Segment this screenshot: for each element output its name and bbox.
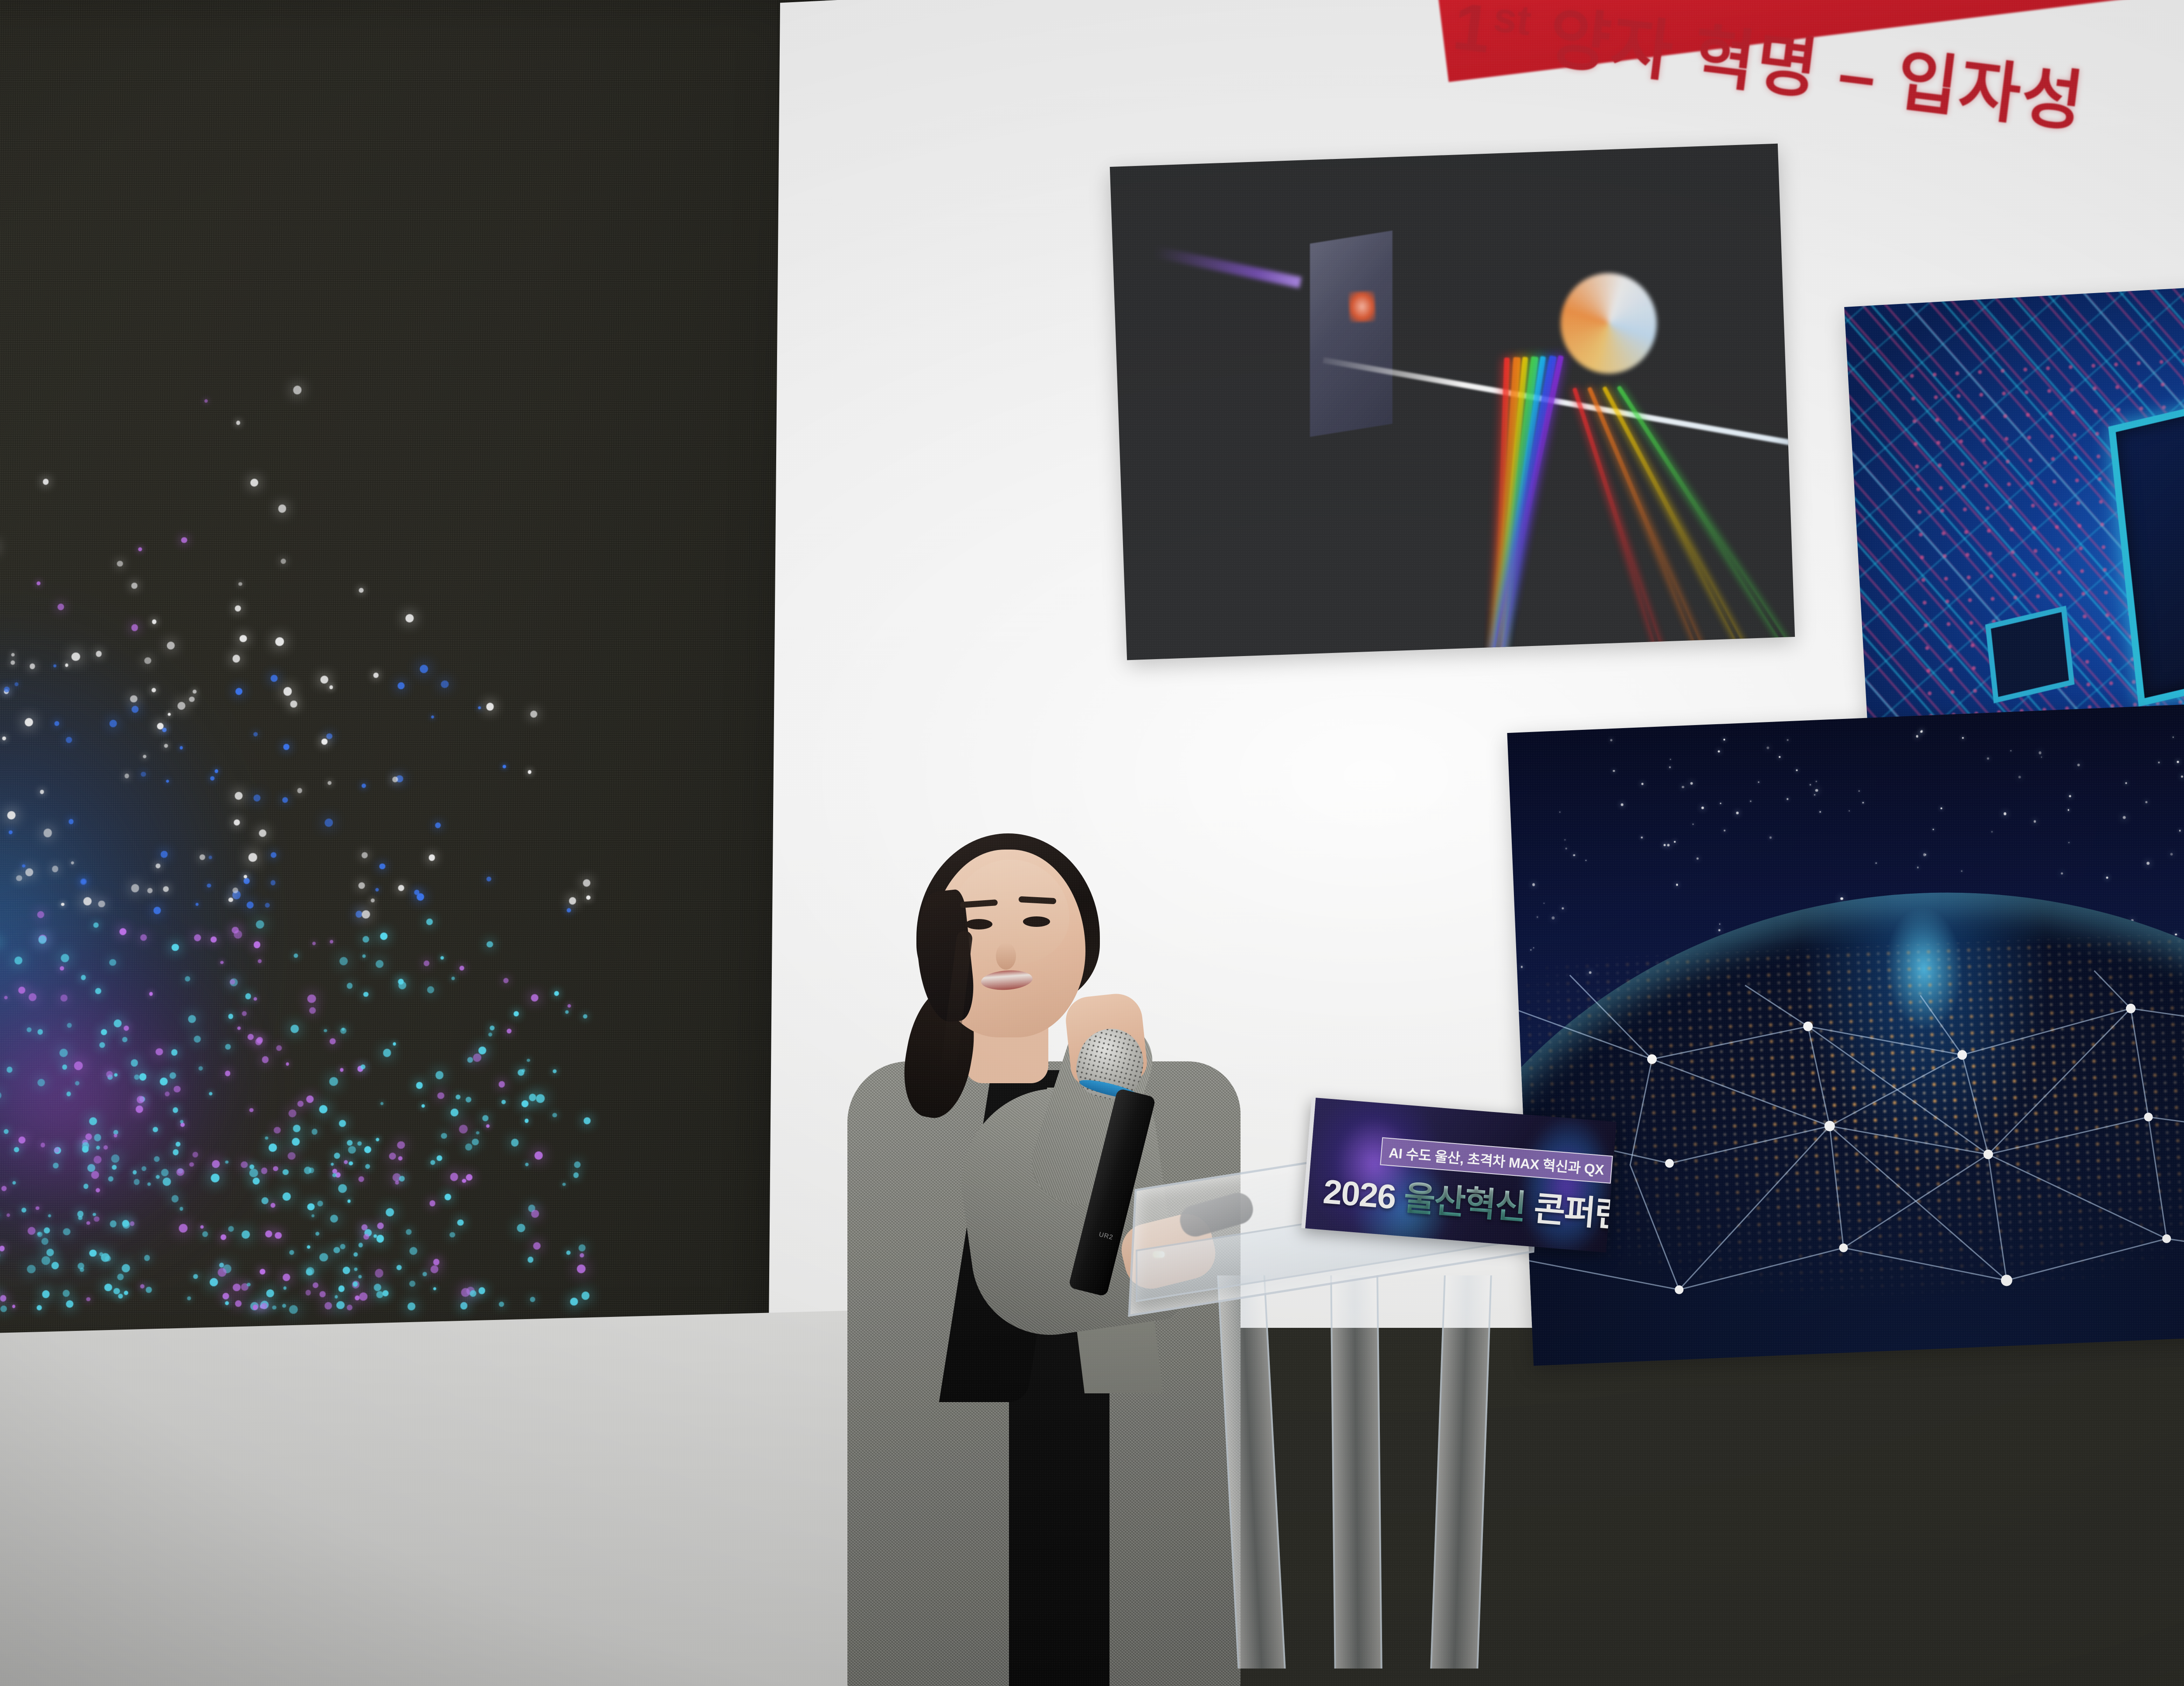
slide-title-ordinal: 1 [1449, 0, 1497, 67]
prism-lens-glow [1559, 271, 1659, 375]
speaker-eye-right [1023, 916, 1050, 927]
slide-title-ordinal-suffix: st [1491, 0, 1534, 44]
conference-stage-photo: 1st 양자 혁명 – 입자성 [0, 0, 2184, 1686]
prism-plate [1310, 231, 1393, 437]
speaker-eye-left [965, 919, 992, 929]
acrylic-lectern: AI 수도 울산, 초격차 MAX 혁신과 QX 2026 울산혁신 콘퍼런스 [1131, 1118, 1594, 1686]
lectern-leg-center [1330, 1275, 1382, 1669]
conference-signage-panel: AI 수도 울산, 초격차 MAX 혁신과 QX 2026 울산혁신 콘퍼런스 [1301, 1097, 1617, 1252]
lectern-leg-left [1217, 1275, 1286, 1669]
incident-beam [1154, 246, 1302, 288]
signage-title-highlight: 울산혁신 [1403, 1178, 1527, 1226]
led-video-wall [0, 0, 826, 1350]
slide-image-prism-light-dispersion [1110, 144, 1795, 660]
particle-graphic [0, 266, 619, 1323]
signage-title-year: 2026 [1322, 1172, 1406, 1217]
slit-aperture [1348, 291, 1375, 322]
slide-image-earth-global-network [1507, 700, 2184, 1366]
speaker-nose [996, 943, 1016, 970]
lectern-leg-right [1430, 1275, 1492, 1669]
signage-title-tail: 콘퍼런스 [1524, 1188, 1617, 1237]
